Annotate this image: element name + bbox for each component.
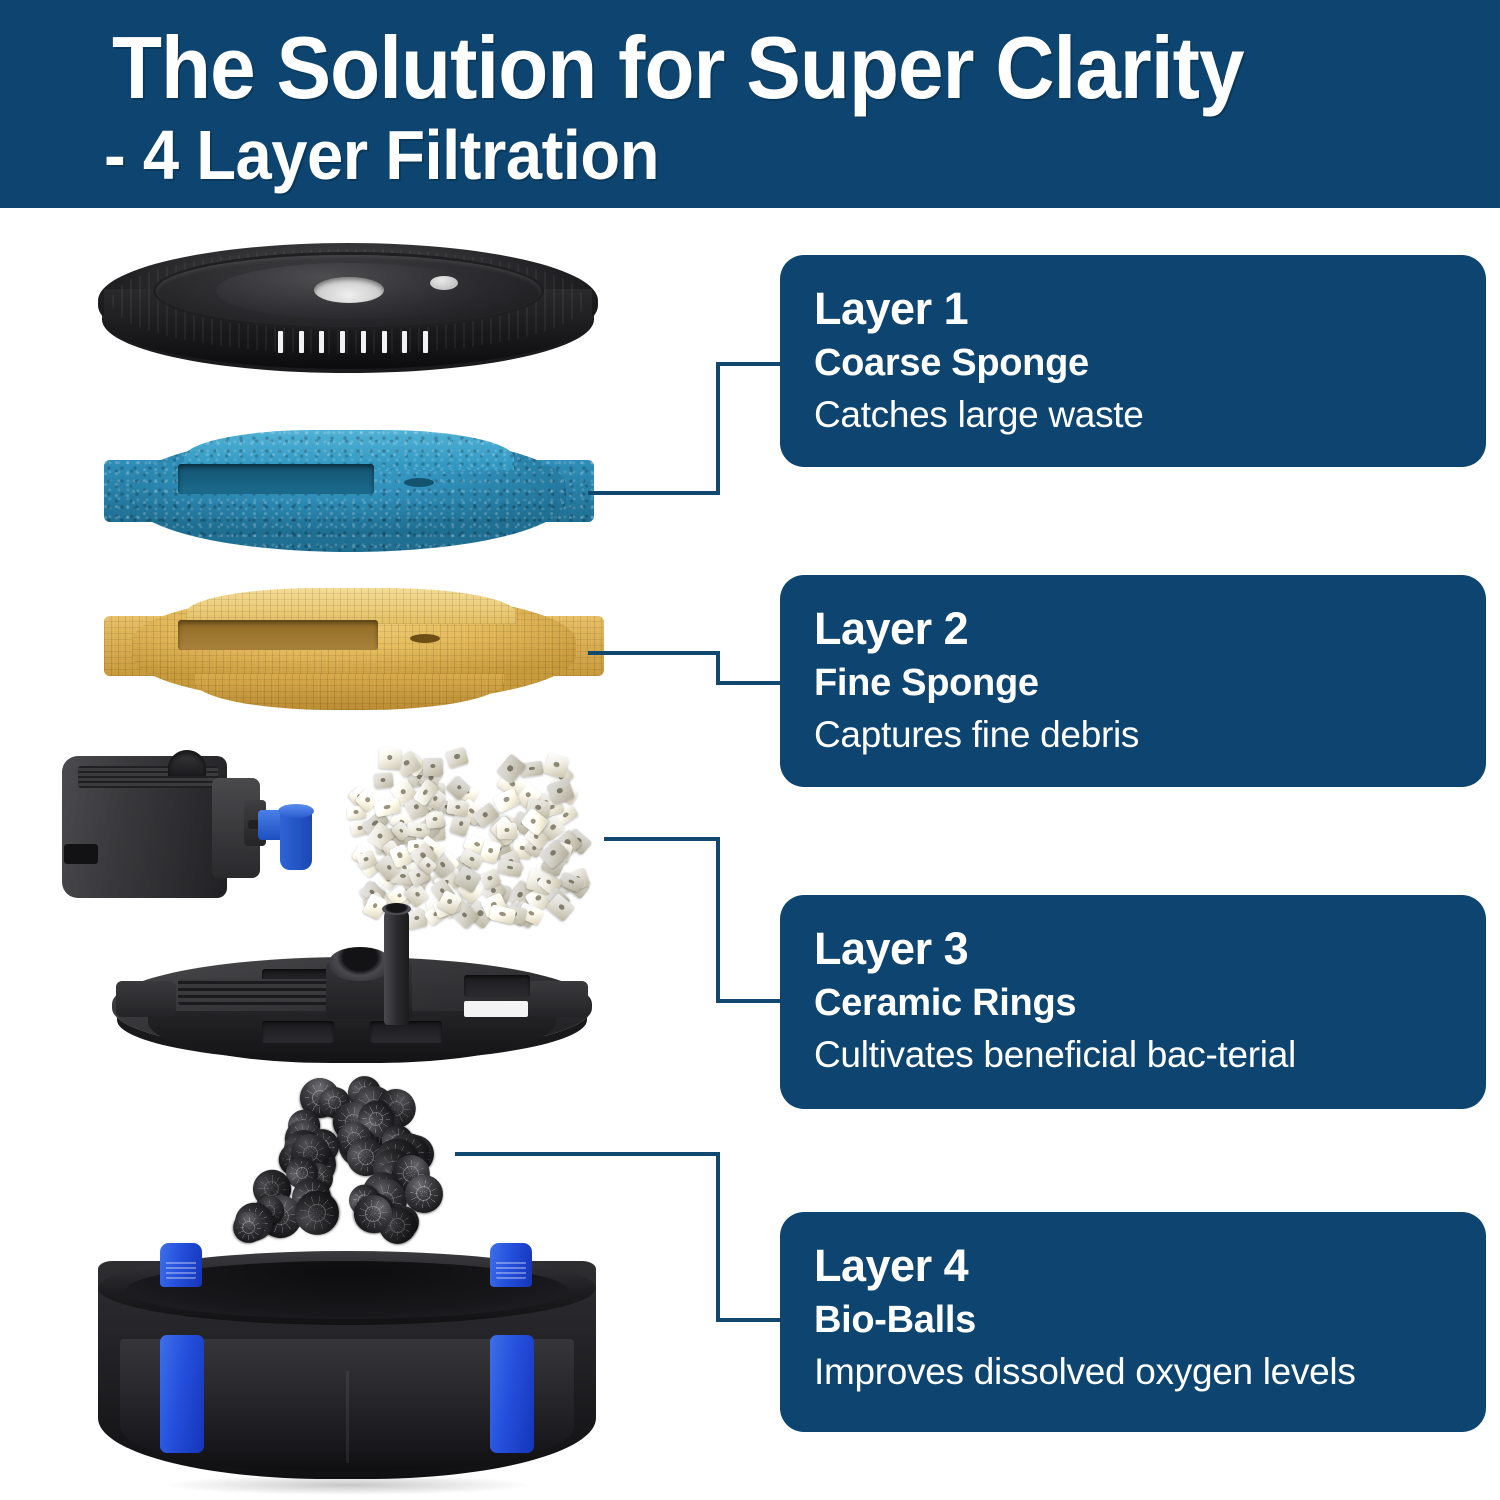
ceramic-ring bbox=[423, 757, 443, 775]
base-plate-slot-2 bbox=[262, 1021, 334, 1043]
infographic-page: The Solution for Super Clarity - 4 Layer… bbox=[0, 0, 1500, 1500]
base-plate-rails bbox=[178, 979, 348, 1005]
layer-1-name: Coarse Sponge bbox=[814, 337, 1486, 389]
layer-4-name: Bio-Balls bbox=[814, 1294, 1486, 1346]
layer-card-2[interactable]: Layer 2 Fine Sponge Captures fine debris bbox=[780, 575, 1486, 787]
lid-vent-slots bbox=[278, 331, 428, 353]
housing-clip-front-right bbox=[490, 1335, 534, 1453]
connector-3-horizontal-upper bbox=[604, 837, 720, 841]
fine-sponge-top-face bbox=[186, 588, 516, 624]
pump-inlet-port bbox=[168, 750, 206, 776]
base-plate-left-lug bbox=[116, 981, 176, 1017]
layer-card-4[interactable]: Layer 4 Bio-Balls Improves dissolved oxy… bbox=[780, 1212, 1486, 1432]
base-plate-slot-4 bbox=[464, 975, 530, 997]
fine-sponge-skirt bbox=[194, 674, 504, 710]
connector-2-horizontal-upper bbox=[588, 651, 720, 655]
layer-3-description: Cultivates beneficial bac-terial bbox=[814, 1029, 1486, 1081]
ceramic-ring bbox=[425, 811, 445, 829]
base-plate-right-lug bbox=[528, 981, 588, 1017]
base-plate-collar bbox=[330, 947, 390, 981]
housing-clip-back-left bbox=[160, 1243, 202, 1287]
housing-drop-shadow bbox=[168, 1475, 528, 1495]
base-plate-riser-tube bbox=[384, 907, 409, 1025]
housing-clip-back-right bbox=[490, 1243, 532, 1287]
page-title-line2: - 4 Layer Filtration bbox=[104, 116, 659, 194]
pump-foot bbox=[64, 844, 98, 864]
ceramic-ring bbox=[496, 823, 516, 840]
ceramic-rings-part bbox=[338, 742, 603, 927]
layer-3-name: Ceramic Rings bbox=[814, 977, 1486, 1029]
layer-2-description: Captures fine debris bbox=[814, 709, 1486, 761]
connector-4-horizontal-upper bbox=[455, 1152, 720, 1156]
layer-1-number: Layer 1 bbox=[814, 281, 1486, 337]
layer-4-description: Improves dissolved oxygen levels bbox=[814, 1346, 1486, 1398]
ceramic-ring bbox=[445, 746, 469, 768]
connector-1-horizontal-lower bbox=[588, 491, 720, 495]
coarse-sponge-part bbox=[104, 430, 594, 560]
bio-balls-part bbox=[236, 1082, 466, 1242]
filter-housing-part bbox=[98, 1243, 596, 1498]
connector-1-horizontal-upper bbox=[716, 362, 782, 366]
lid-center-hole bbox=[314, 277, 384, 303]
filter-lid-part bbox=[98, 243, 598, 388]
ceramic-ring bbox=[379, 747, 402, 769]
layer-3-number: Layer 3 bbox=[814, 921, 1486, 977]
ceramic-ring bbox=[374, 772, 394, 788]
fine-sponge-pin-hole bbox=[410, 634, 440, 643]
connector-2-horizontal-lower bbox=[716, 681, 782, 685]
housing-seam bbox=[346, 1371, 349, 1463]
connector-3-horizontal-lower bbox=[716, 999, 782, 1003]
layer-1-description: Catches large waste bbox=[814, 389, 1486, 441]
water-pump-part bbox=[62, 748, 312, 908]
header-banner: The Solution for Super Clarity - 4 Layer… bbox=[0, 0, 1500, 208]
lid-indicator-dot bbox=[430, 276, 458, 290]
layer-2-name: Fine Sponge bbox=[814, 657, 1486, 709]
connector-1-vertical bbox=[716, 362, 720, 495]
layer-card-3[interactable]: Layer 3 Ceramic Rings Cultivates benefic… bbox=[780, 895, 1486, 1109]
housing-clip-front-left bbox=[160, 1335, 204, 1453]
fine-sponge-groove bbox=[178, 620, 378, 650]
connector-4-vertical bbox=[716, 1152, 720, 1322]
base-plate-riser-tube-opening bbox=[382, 903, 411, 915]
layer-2-number: Layer 2 bbox=[814, 601, 1486, 657]
pump-elbow-fitting-vertical bbox=[280, 810, 312, 870]
coarse-sponge-groove bbox=[178, 464, 374, 494]
coarse-sponge-pin-hole bbox=[404, 478, 434, 487]
base-plate-cutout bbox=[464, 1001, 528, 1017]
connector-2-vertical bbox=[716, 651, 720, 685]
layer-4-number: Layer 4 bbox=[814, 1238, 1486, 1294]
page-title-line1: The Solution for Super Clarity bbox=[112, 20, 1244, 116]
pump-elbow-cap bbox=[278, 804, 314, 818]
layer-card-1[interactable]: Layer 1 Coarse Sponge Catches large wast… bbox=[780, 255, 1486, 467]
base-plate-part bbox=[112, 935, 592, 1075]
fine-sponge-part bbox=[104, 588, 604, 718]
connector-4-horizontal-lower bbox=[716, 1318, 782, 1322]
connector-3-vertical bbox=[716, 837, 720, 1003]
